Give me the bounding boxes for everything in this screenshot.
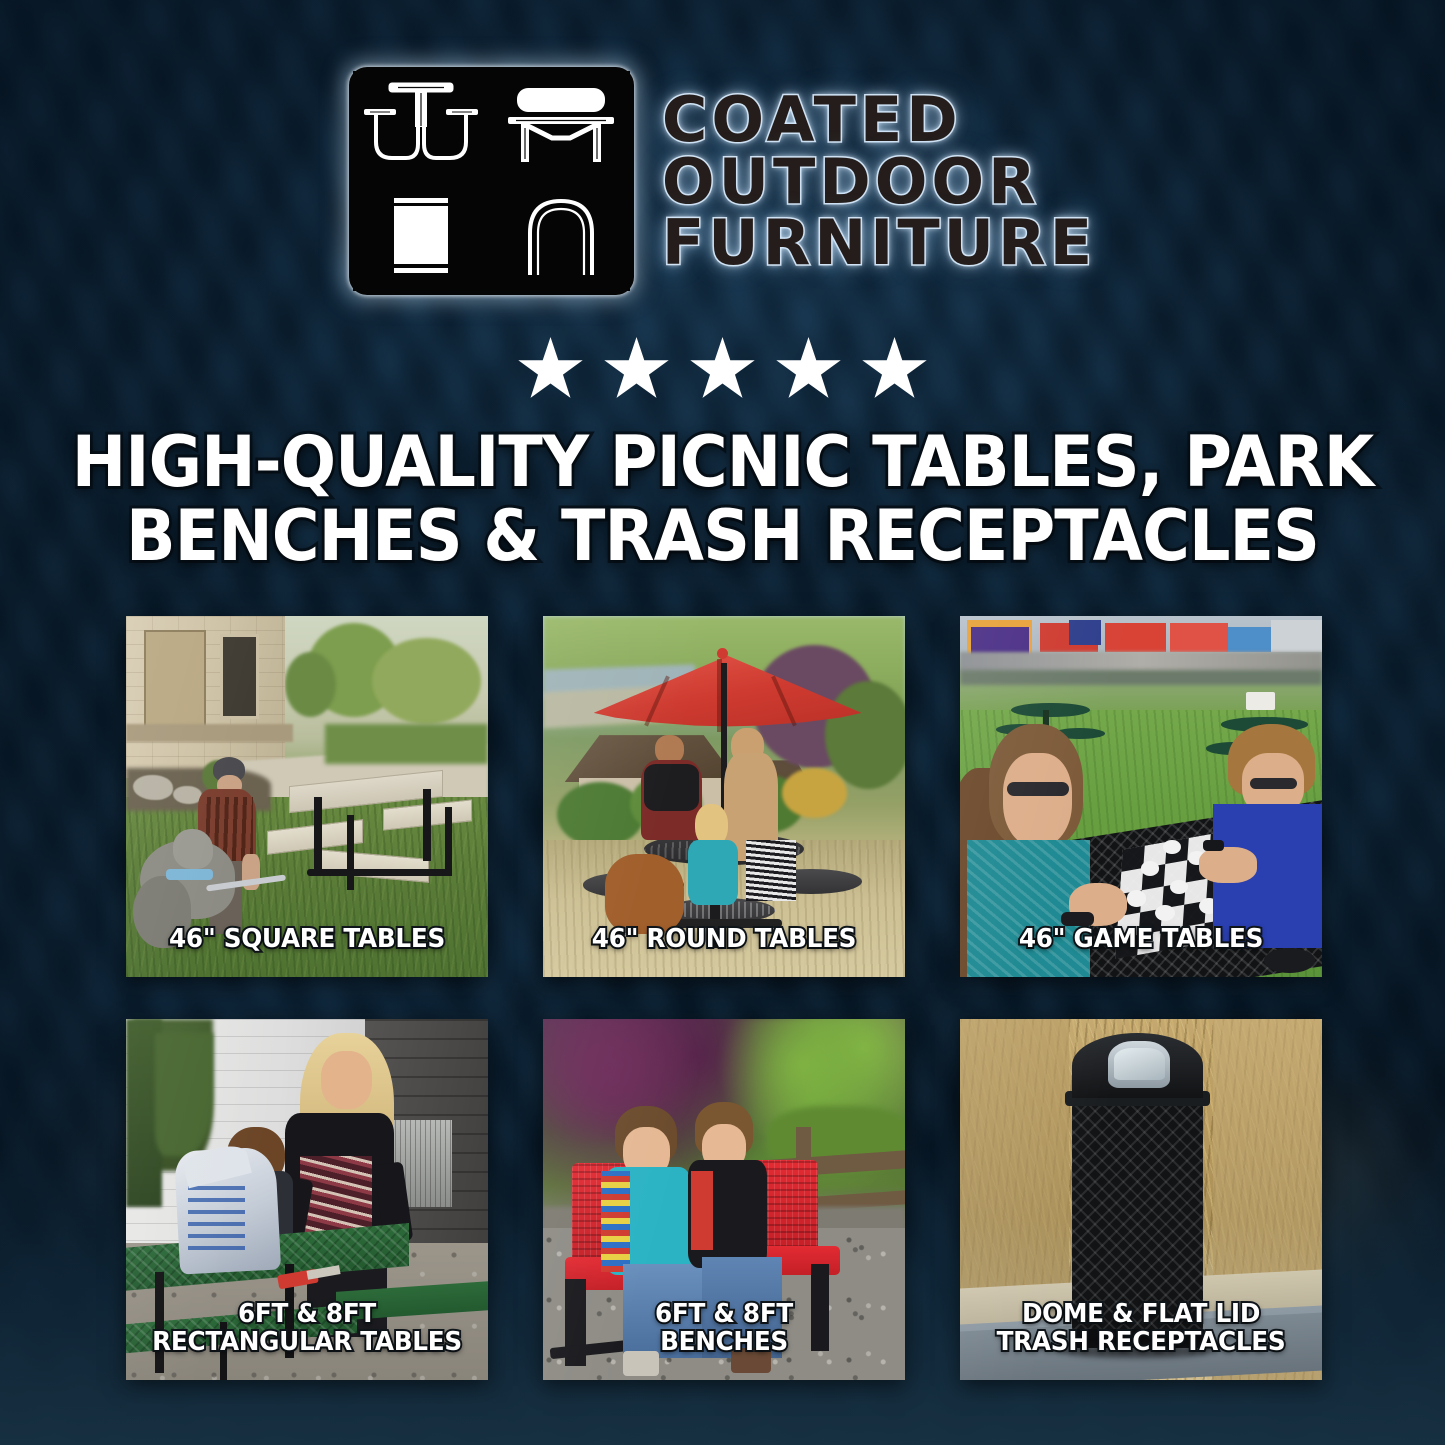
brand-name-line-3: FURNITURE: [662, 213, 1096, 273]
bike-rack-arch-icon: [493, 182, 630, 291]
brand-logo-mark: [349, 67, 634, 295]
product-card-rectangular-tables[interactable]: 6FT & 8FT RECTANGULAR TABLES: [126, 1019, 488, 1380]
brand-name-line-2: OUTDOOR: [662, 152, 1096, 212]
product-label-line-1: 6FT & 8FT: [135, 1301, 479, 1328]
product-card-label: 46" ROUND TABLES: [552, 926, 896, 953]
product-card-square-tables[interactable]: 46" SQUARE TABLES: [126, 616, 488, 977]
product-label-line-1: 46" SQUARE TABLES: [135, 926, 479, 953]
product-card-label: 6FT & 8FT RECTANGULAR TABLES: [135, 1301, 479, 1356]
picnic-table-front-icon: [353, 71, 490, 180]
star-icon: [862, 337, 928, 403]
star-rating: [0, 332, 1445, 408]
page-title: HIGH-QUALITY PICNIC TABLES, PARK BENCHES…: [51, 425, 1395, 573]
trash-receptacle-icon: [353, 182, 490, 291]
headline-line-1: HIGH-QUALITY PICNIC TABLES, PARK: [51, 425, 1395, 499]
brand-name-line-1: COATED: [662, 90, 1096, 150]
product-card-trash-receptacles[interactable]: DOME & FLAT LID TRASH RECEPTACLES: [960, 1019, 1322, 1380]
product-card-grid: 46" SQUARE TABLES: [126, 616, 1322, 1380]
headline-line-2: BENCHES & TRASH RECEPTACLES: [51, 499, 1395, 573]
brand-logo-row: COATED OUTDOOR FURNITURE: [0, 58, 1445, 303]
product-card-label: DOME & FLAT LID TRASH RECEPTACLES: [969, 1301, 1313, 1356]
promo-poster: COATED OUTDOOR FURNITURE HIGH-QUALITY PI…: [0, 0, 1445, 1445]
star-icon: [690, 337, 756, 403]
brand-wordmark: COATED OUTDOOR FURNITURE: [662, 88, 1096, 273]
star-icon: [776, 337, 842, 403]
product-card-round-tables[interactable]: 46" ROUND TABLES: [543, 616, 905, 977]
picnic-table-side-icon: [493, 71, 630, 180]
product-card-benches[interactable]: 6FT & 8FT BENCHES: [543, 1019, 905, 1380]
product-label-line-1: 46" GAME TABLES: [969, 926, 1313, 953]
product-label-line-2: TRASH RECEPTACLES: [969, 1329, 1313, 1356]
product-card-label: 6FT & 8FT BENCHES: [552, 1301, 896, 1356]
product-label-line-1: 46" ROUND TABLES: [552, 926, 896, 953]
star-icon: [604, 337, 670, 403]
product-label-line-1: DOME & FLAT LID: [969, 1301, 1313, 1328]
star-icon: [518, 337, 584, 403]
product-label-line-2: BENCHES: [552, 1329, 896, 1356]
product-card-label: 46" GAME TABLES: [969, 926, 1313, 953]
product-card-label: 46" SQUARE TABLES: [135, 926, 479, 953]
product-card-game-tables[interactable]: 46" GAME TABLES: [960, 616, 1322, 977]
product-label-line-1: 6FT & 8FT: [552, 1301, 896, 1328]
product-label-line-2: RECTANGULAR TABLES: [135, 1329, 479, 1356]
